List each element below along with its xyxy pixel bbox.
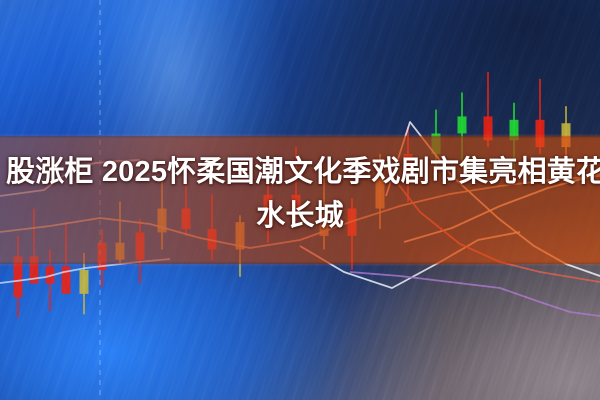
headline-line-1: 股涨柜 2025怀柔国潮文化季戏剧市集亮相黄花城 bbox=[6, 150, 594, 194]
headline-text: 股涨柜 2025怀柔国潮文化季戏剧市集亮相黄花城 水长城 bbox=[0, 150, 600, 238]
thumbnail-image: 股涨柜 2025怀柔国潮文化季戏剧市集亮相黄花城 水长城 bbox=[0, 0, 600, 400]
headline-line-2: 水长城 bbox=[6, 194, 594, 238]
